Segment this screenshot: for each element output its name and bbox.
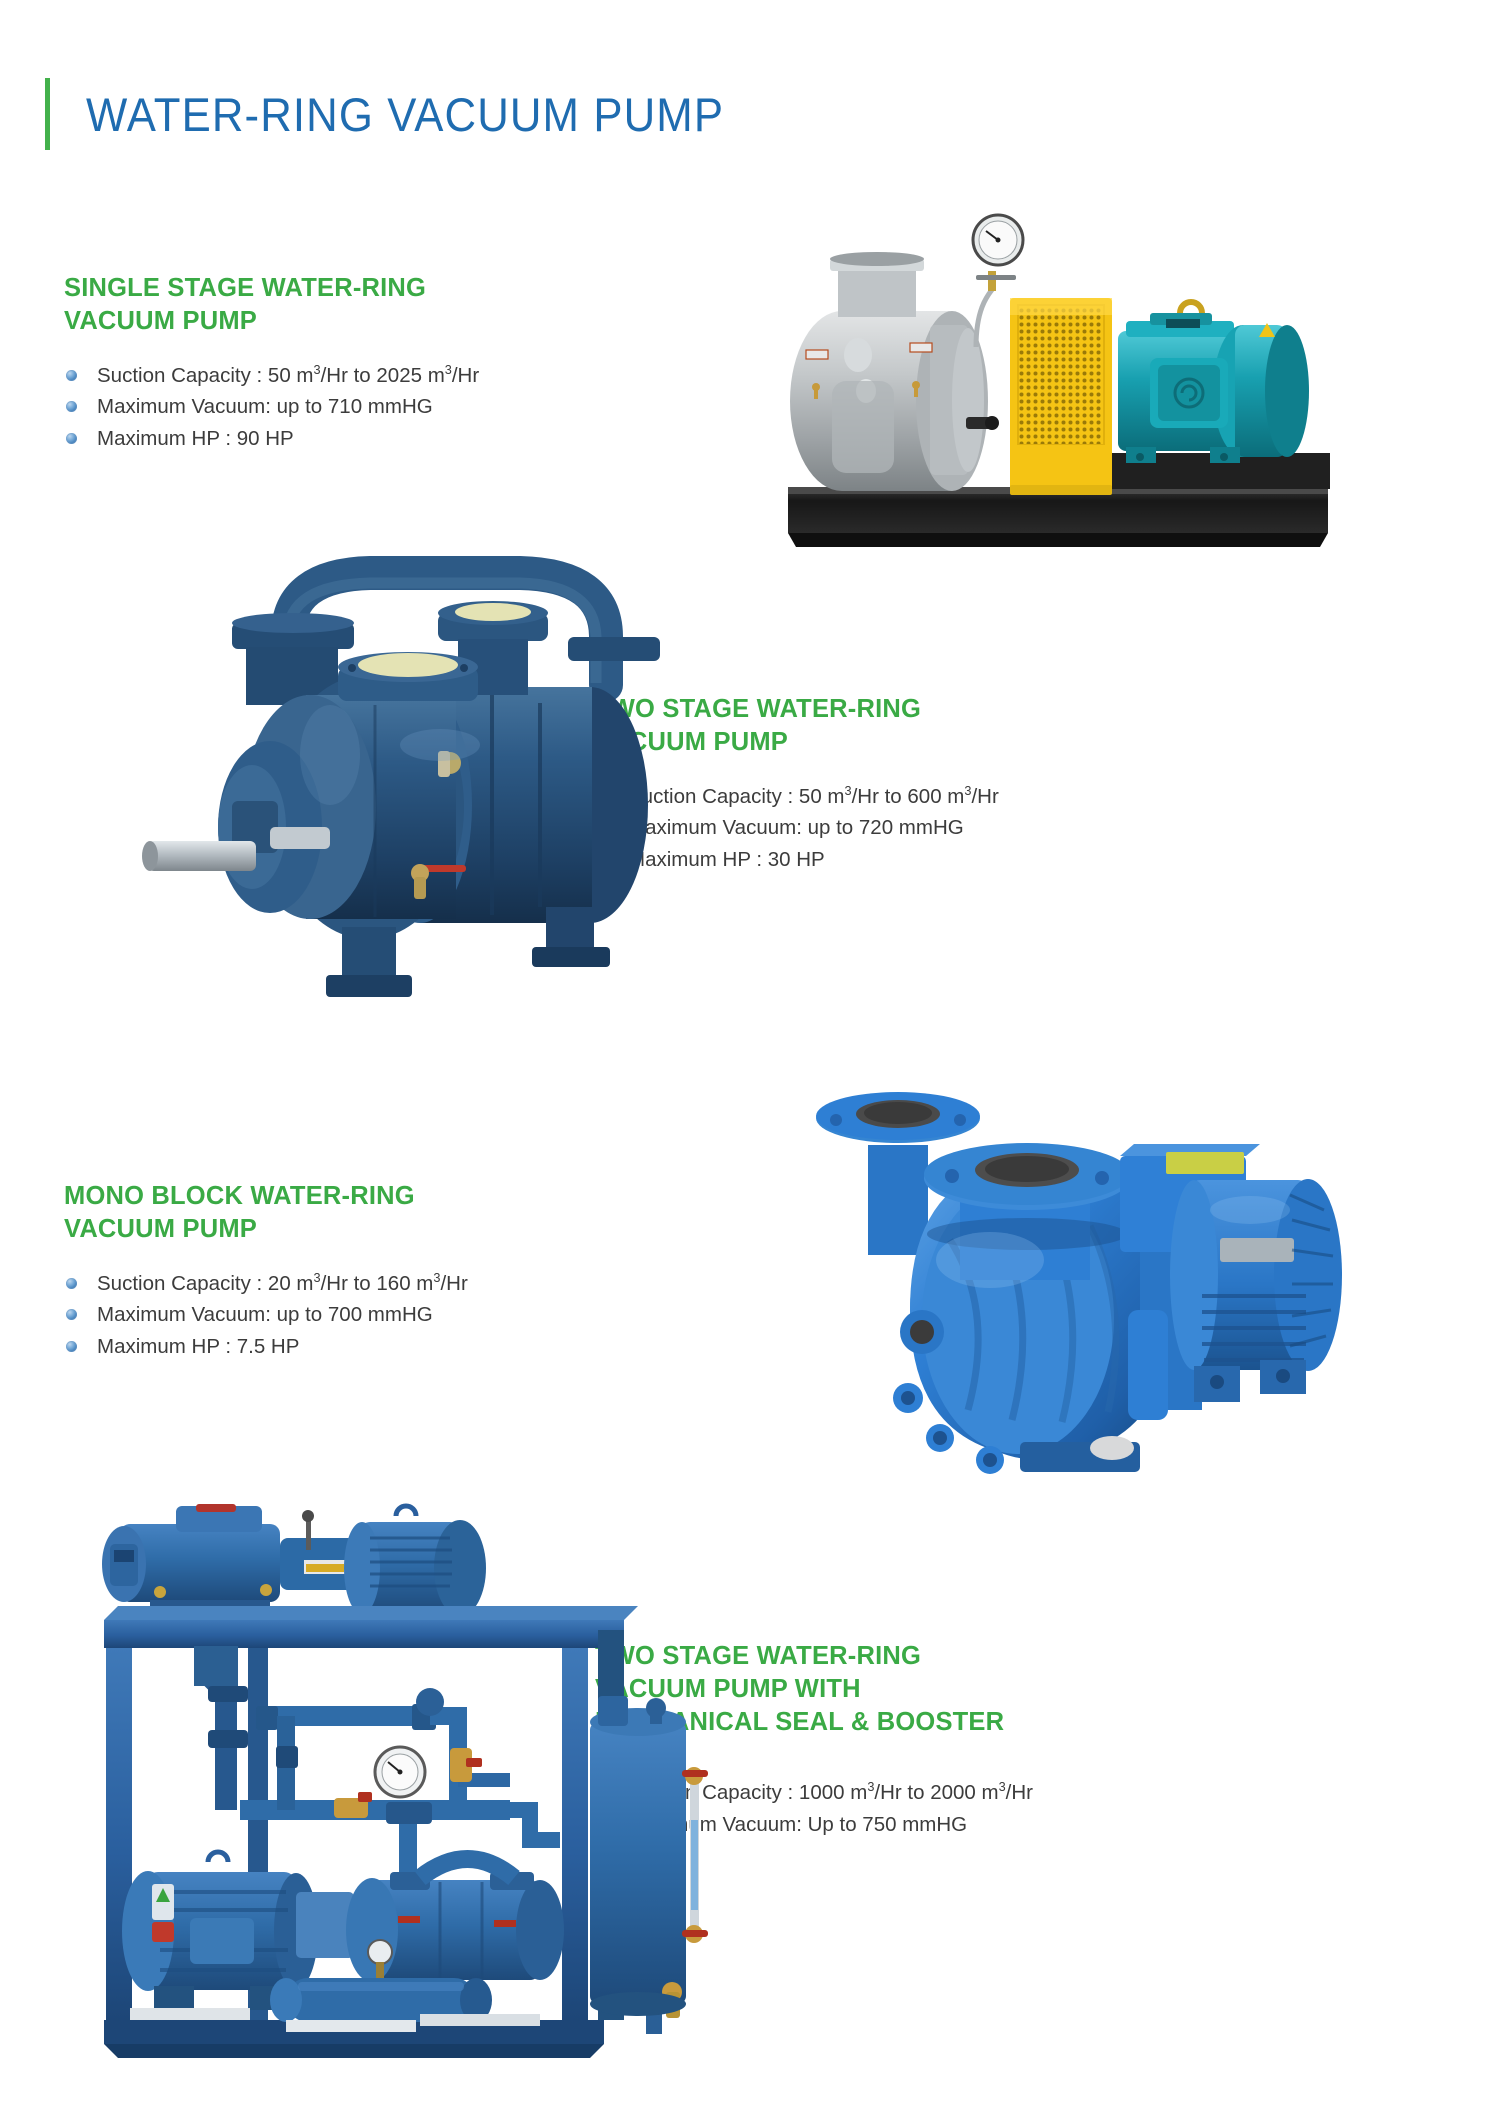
bullet-sphere-icon xyxy=(66,401,77,412)
gasket-rear xyxy=(455,603,531,621)
pump-foot-left xyxy=(342,927,396,983)
bullet-sphere-icon xyxy=(66,1309,77,1320)
suction-flange xyxy=(838,267,916,317)
spec-item: Maximum Vacuum: up to 710 mmHG xyxy=(64,391,564,422)
section-single-stage-heading: SINGLE STAGE WATER-RING VACUUM PUMP xyxy=(64,272,564,338)
motor-nameplate xyxy=(1220,1238,1294,1262)
spec-item: Suction Capacity : 50 m3/Hr to 2025 m3/H… xyxy=(64,360,564,391)
section-two-stage-spec-list: Suction Capacity : 50 m3/Hr to 600 m3/Hr… xyxy=(595,781,1095,874)
title-accent-bar xyxy=(45,78,50,150)
spec-item: Suction Capacity : 20 m3/Hr to 160 m3/Hr xyxy=(64,1268,564,1299)
suction-port-pipe xyxy=(868,1145,928,1255)
section-mono-block-text: MONO BLOCK WATER-RING VACUUM PUMP Suctio… xyxy=(64,1180,564,1362)
two-stage-pump-lower xyxy=(346,1859,564,1982)
spec-item: Maximum HP : 90 HP xyxy=(64,423,564,454)
spec-item: Maximum HP : 7.5 HP xyxy=(64,1331,564,1362)
spec-item: Maximum Vacuum: up to 700 mmHG xyxy=(64,1299,564,1330)
section-mono-block-heading: MONO BLOCK WATER-RING VACUUM PUMP xyxy=(64,1180,564,1246)
section-mono-block-spec-list: Suction Capacity : 20 m3/Hr to 160 m3/Hr… xyxy=(64,1268,564,1361)
frame-post-right xyxy=(562,1648,588,2020)
bullet-sphere-icon xyxy=(66,1341,77,1352)
coupling-guard xyxy=(1010,298,1112,495)
drive-shaft xyxy=(148,841,256,871)
section-single-stage-spec-list: Suction Capacity : 50 m3/Hr to 2025 m3/H… xyxy=(64,360,564,453)
mono-block-pump-image xyxy=(790,1060,1360,1480)
spec-item: Maximum HP : 30 HP xyxy=(595,844,1095,875)
nameplate-sticker xyxy=(1166,1152,1244,1174)
page-header: WATER-RING VACUUM PUMP xyxy=(45,78,772,150)
section-two-stage-heading: TWO STAGE WATER-RING VACUUM PUMP xyxy=(595,693,1095,759)
spec-item: Suction Capacity : 50 m3/Hr to 600 m3/Hr xyxy=(595,781,1095,812)
bullet-sphere-icon xyxy=(66,370,77,381)
spec-item: Maximum Vacuum: up to 720 mmHG xyxy=(595,812,1095,843)
booster-skid-image xyxy=(90,1480,730,2070)
frame-top-deck xyxy=(104,1620,624,1648)
page-title: WATER-RING VACUUM PUMP xyxy=(86,87,724,142)
two-stage-pump-image xyxy=(120,555,660,1025)
single-stage-pump-image xyxy=(780,195,1350,570)
gasket-front xyxy=(358,653,458,677)
section-two-stage-text: TWO STAGE WATER-RING VACUUM PUMP Suction… xyxy=(595,693,1095,875)
bullet-sphere-icon xyxy=(66,433,77,444)
bullet-sphere-icon xyxy=(66,1278,77,1289)
electric-motor xyxy=(1118,302,1309,463)
motor-terminal-box xyxy=(190,1918,254,1964)
separator-tank xyxy=(590,1696,708,2034)
section-single-stage-text: SINGLE STAGE WATER-RING VACUUM PUMP Suct… xyxy=(64,272,564,454)
